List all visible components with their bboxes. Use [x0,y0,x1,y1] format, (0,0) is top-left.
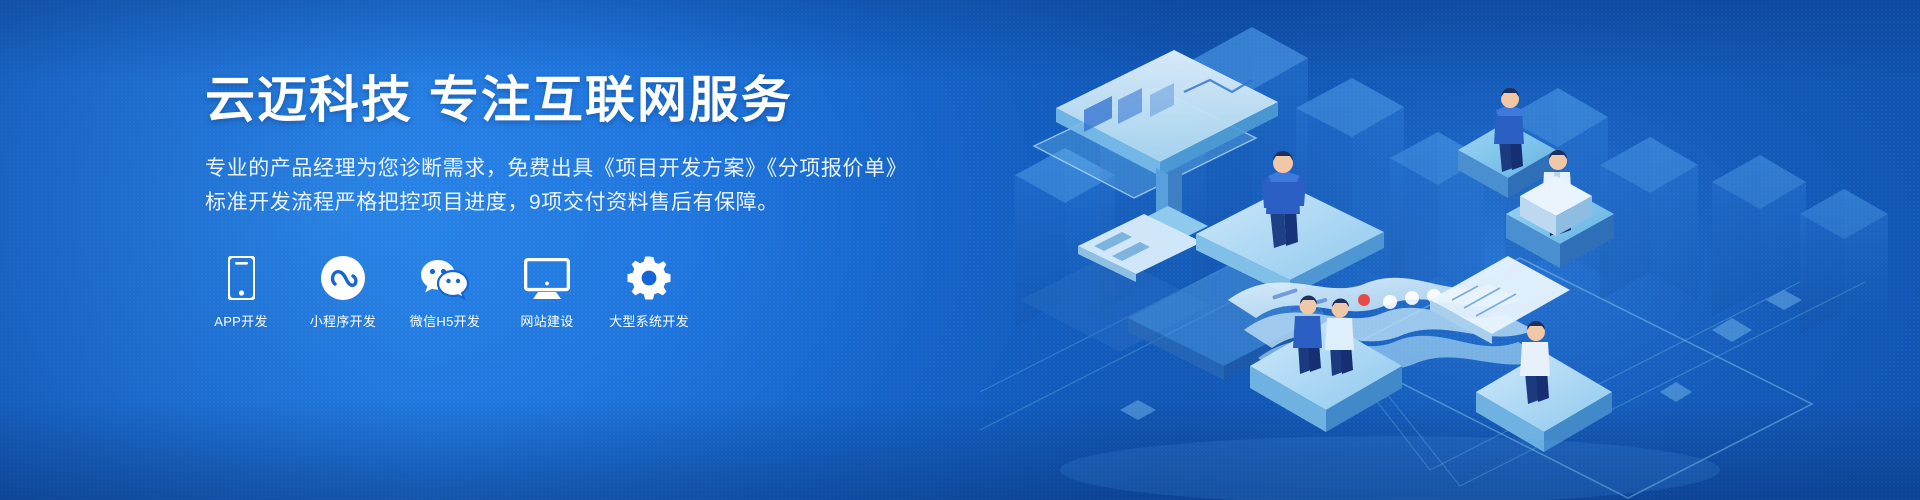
service-item-app[interactable]: APP开发 [205,254,277,330]
promo-banner: 云迈科技 专注互联网服务 专业的产品经理为您诊断需求，免费出具《项目开发方案》《… [0,0,1920,500]
service-item-website[interactable]: 网站建设 [511,254,583,330]
banner-content: 云迈科技 专注互联网服务 专业的产品经理为您诊断需求，免费出具《项目开发方案》《… [205,72,985,330]
service-item-large-system[interactable]: 大型系统开发 [613,254,685,330]
mobile-phone-icon [228,254,255,300]
wechat-icon [420,254,470,300]
service-label: 大型系统开发 [609,311,689,330]
subtitle-line-1: 专业的产品经理为您诊断需求，免费出具《项目开发方案》《分项报价单》 [205,152,985,186]
monitor-icon [524,254,570,300]
service-list: APP开发 小程序开发 [205,254,985,330]
gear-icon [627,254,671,300]
service-label: APP开发 [214,311,268,330]
subtitle-line-2: 标准开发流程严格把控项目进度，9项交付资料售后有保障。 [205,186,985,220]
isometric-illustration [960,0,1920,500]
page-title: 云迈科技 专注互联网服务 [205,72,985,130]
service-label: 网站建设 [520,311,573,330]
mini-program-icon [321,254,365,300]
service-label: 小程序开发 [310,311,377,330]
service-item-wechat-h5[interactable]: 微信H5开发 [409,254,481,330]
service-label: 微信H5开发 [410,311,480,330]
banner-subtitle: 专业的产品经理为您诊断需求，免费出具《项目开发方案》《分项报价单》 标准开发流程… [205,152,985,220]
service-item-mini-program[interactable]: 小程序开发 [307,254,379,330]
